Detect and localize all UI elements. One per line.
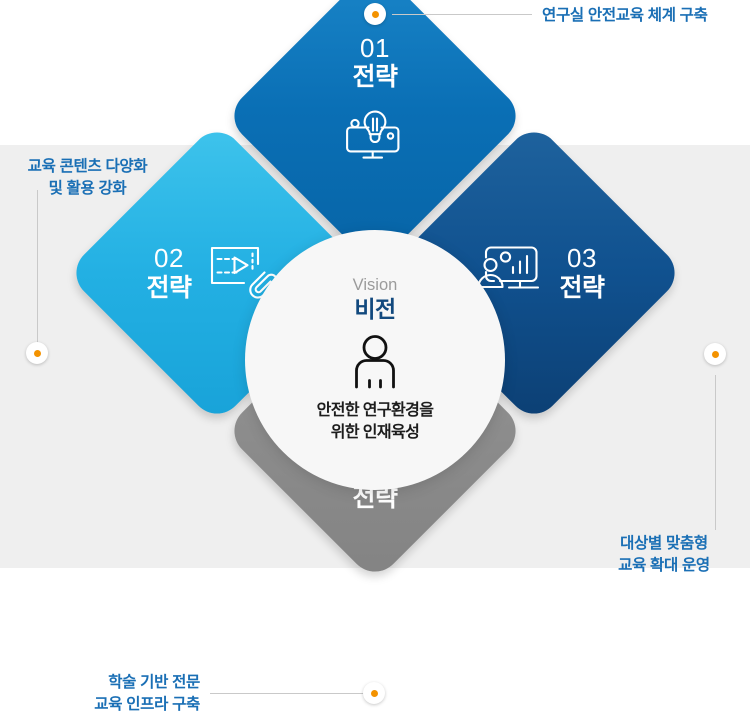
- dot-marker-icon-top[interactable]: [364, 3, 386, 25]
- strategy-01-label: 전략: [352, 63, 397, 92]
- vision-hub: Vision 비전 안전한 연구환경을 위한 인재육성: [245, 230, 505, 490]
- infographic-canvas: 01 전략: [0, 0, 750, 720]
- caption-strategy-03: 대상별 맞춤형 교육 확대 운영: [578, 533, 750, 578]
- strategy-03-text: 03 전략: [559, 243, 604, 302]
- strategy-02-number: 02: [146, 243, 191, 273]
- strategy-03-number: 03: [559, 243, 604, 273]
- strategy-02-label: 전략: [146, 274, 191, 303]
- connector-line-bottom: [210, 693, 365, 694]
- strategy-01-number: 01: [352, 33, 397, 63]
- strategy-03-label: 전략: [559, 274, 604, 303]
- dot-marker-icon-right[interactable]: [704, 343, 726, 365]
- dot-marker-icon-bottom[interactable]: [363, 682, 385, 704]
- strategy-02-text: 02 전략: [146, 243, 191, 302]
- vision-label-en: Vision: [353, 277, 398, 294]
- connector-line-left: [37, 190, 38, 350]
- caption-strategy-04: 학술 기반 전문 교육 인프라 구축: [0, 672, 200, 717]
- vision-label-ko: 비전: [354, 298, 395, 321]
- person-icon: [351, 334, 399, 395]
- connector-line-right: [715, 375, 716, 530]
- caption-strategy-02: 교육 콘텐츠 다양화 및 활용 강화: [0, 156, 175, 201]
- connector-line-top: [392, 14, 532, 15]
- caption-strategy-01: 연구실 안전교육 체계 구축: [542, 5, 747, 27]
- strategy-01-text: 01 전략: [352, 33, 397, 92]
- vision-description: 안전한 연구환경을 위한 인재육성: [317, 400, 434, 443]
- lightbulb-monitor-icon: [342, 110, 408, 171]
- dot-marker-icon-left[interactable]: [26, 342, 48, 364]
